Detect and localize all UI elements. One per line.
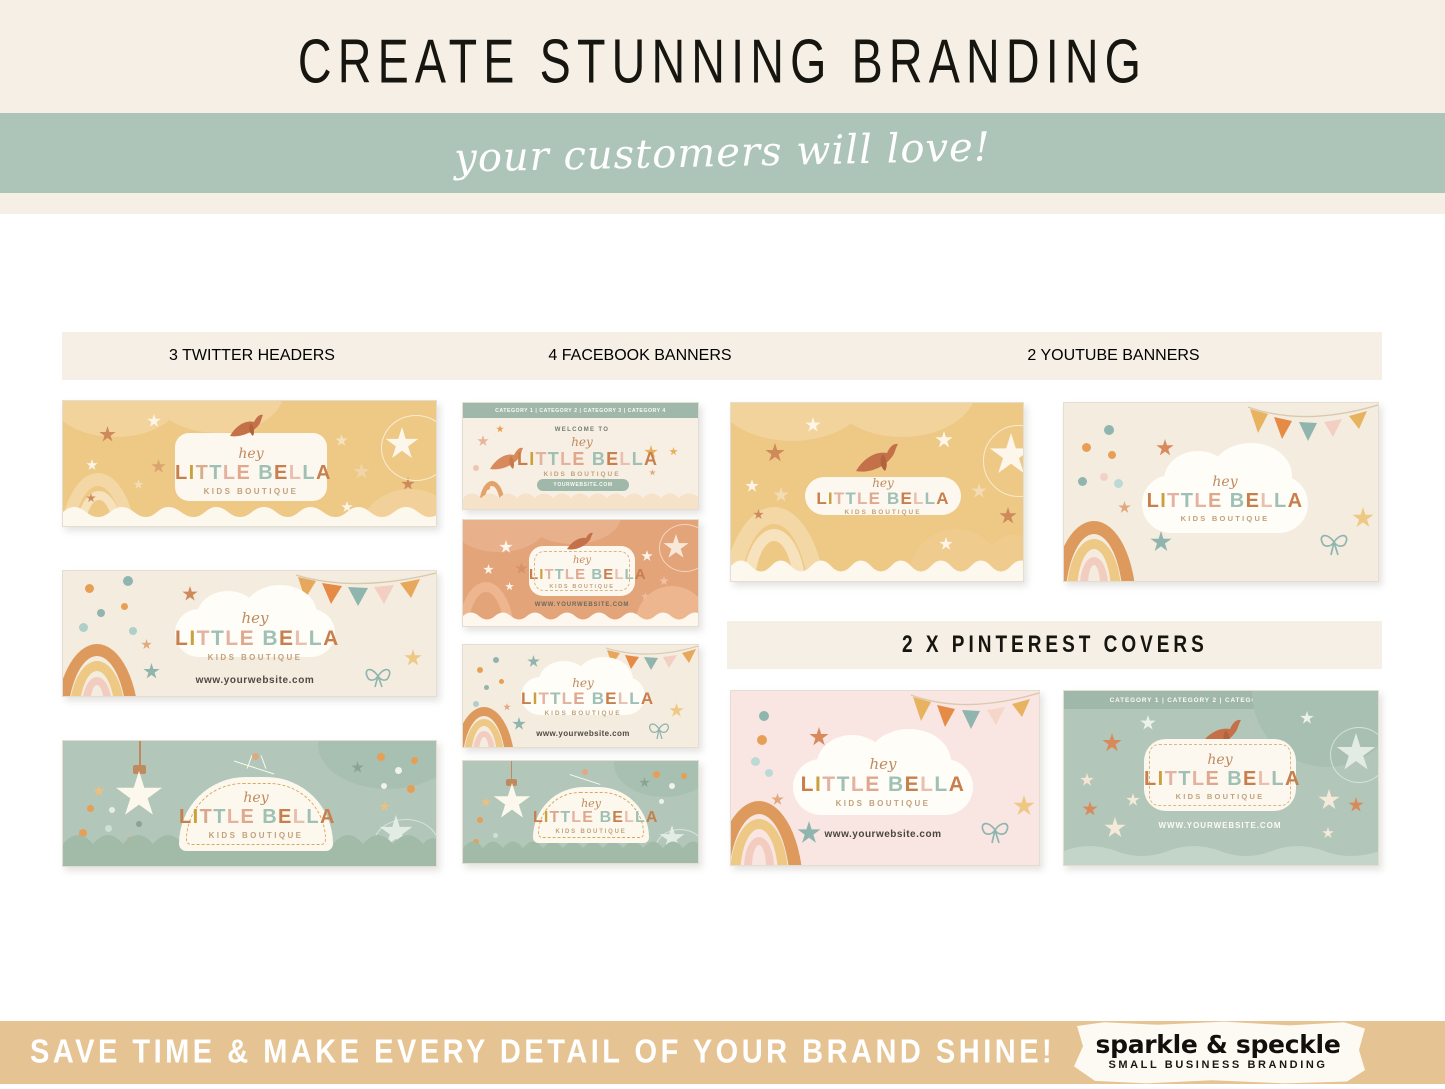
decor-bow-icon bbox=[363, 663, 393, 689]
decor-dot bbox=[477, 667, 483, 673]
brand-script-word: hey bbox=[1142, 475, 1308, 489]
card-pinterest-cover-1[interactable]: hey LITTLE BELLA KIDS BOUTIQUE www.yourw… bbox=[730, 690, 1040, 866]
decor-dot bbox=[97, 609, 105, 617]
decor-star bbox=[527, 655, 540, 668]
card-twitter-header-1[interactable]: hey LITTLE BELLA KIDS BOUTIQUE bbox=[62, 400, 437, 527]
decor-star bbox=[481, 797, 491, 807]
decor-star bbox=[773, 487, 789, 503]
welcome-text: WELCOME TO bbox=[517, 427, 647, 433]
decor-star bbox=[771, 793, 784, 806]
decor-star bbox=[477, 435, 489, 447]
brand-logo: hey LITTLE BELLA KIDS BOUTIQUE bbox=[179, 791, 333, 840]
header-lower-cream-strip bbox=[0, 193, 1445, 214]
page-title: CREATE STUNNING BRANDING bbox=[87, 26, 1359, 98]
decor-bow-icon bbox=[979, 817, 1011, 845]
decor-star bbox=[999, 507, 1017, 525]
card-facebook-banner-1[interactable]: CATEGORY 1 | CATEGORY 2 | CATEGORY 3 | C… bbox=[462, 402, 699, 510]
decor-star bbox=[404, 649, 422, 667]
brand-name: LITTLE BELLA bbox=[529, 567, 635, 582]
decor-star bbox=[1156, 439, 1174, 457]
decor-moon-blob bbox=[318, 740, 437, 789]
decor-dot bbox=[129, 627, 137, 635]
decor-dot bbox=[79, 623, 88, 632]
decor-star bbox=[1322, 827, 1334, 839]
decor-star bbox=[765, 443, 785, 463]
decor-wave-bottom bbox=[63, 500, 437, 526]
decor-star bbox=[503, 703, 511, 711]
decor-dot bbox=[681, 773, 687, 779]
brand-name: LITTLE BELLA bbox=[805, 490, 961, 507]
decor-star bbox=[1150, 531, 1172, 553]
decor-dot bbox=[759, 711, 769, 721]
brand-tagline: KIDS BOUTIQUE bbox=[175, 488, 327, 496]
decor-star bbox=[659, 576, 669, 586]
section-label-facebook: 4 FACEBOOK BANNERS bbox=[455, 332, 825, 380]
decor-star bbox=[745, 479, 759, 493]
decor-dot bbox=[765, 769, 773, 777]
decor-star bbox=[669, 447, 678, 456]
brand-tagline: KIDS BOUTIQUE bbox=[521, 711, 645, 718]
website-pill-text: YOURWEBSITE.COM bbox=[553, 482, 612, 488]
decor-swirl bbox=[1330, 727, 1379, 783]
decor-dot bbox=[121, 603, 128, 610]
decor-dot bbox=[1078, 477, 1087, 486]
decor-ornament-string bbox=[261, 755, 267, 769]
brand-logo: hey LITTLE BELLA KIDS BOUTIQUE bbox=[529, 556, 635, 591]
brand-script-word: hey bbox=[1144, 753, 1296, 767]
decor-star bbox=[515, 562, 528, 575]
decor-dot bbox=[1114, 479, 1123, 488]
brand-script-word: hey bbox=[175, 447, 327, 461]
footer-logo-subtitle: SMALL BUSINESS BRANDING bbox=[1068, 1059, 1368, 1071]
decor-star bbox=[1348, 797, 1364, 813]
decor-dot bbox=[1100, 473, 1108, 481]
brand-logo: hey LITTLE BELLA KIDS BOUTIQUE bbox=[1142, 475, 1308, 523]
website-url[interactable]: WWW.YOURWEBSITE.COM bbox=[1144, 821, 1296, 830]
decor-star bbox=[496, 425, 504, 433]
card-facebook-banner-4[interactable]: hey LITTLE BELLA KIDS BOUTIQUE bbox=[462, 760, 699, 864]
decor-star bbox=[182, 586, 198, 602]
bird-icon bbox=[227, 414, 269, 444]
brand-name: LITTLE BELLA bbox=[179, 807, 333, 827]
decor-star bbox=[143, 663, 160, 680]
card-youtube-banner-2[interactable]: hey LITTLE BELLA KIDS BOUTIQUE bbox=[1063, 402, 1379, 582]
decor-dot bbox=[1108, 451, 1116, 459]
category-bar[interactable]: CATEGORY 1 | CATEGORY 2 | CATEGORY 3 | C… bbox=[463, 403, 698, 418]
decor-star bbox=[1013, 795, 1035, 817]
decor-star bbox=[505, 582, 514, 591]
decor-wave-bottom bbox=[463, 608, 699, 626]
decor-moon-blob bbox=[614, 760, 699, 797]
section-label-facebook-text: 4 FACEBOOK BANNERS bbox=[548, 347, 731, 365]
decor-sun-blob bbox=[827, 402, 977, 437]
decor-swirl bbox=[983, 425, 1024, 497]
website-url[interactable]: WWW.YOURWEBSITE.COM bbox=[517, 602, 647, 608]
section-label-pinterest-text: 2 X PINTEREST COVERS bbox=[902, 631, 1208, 659]
decor-star bbox=[86, 459, 98, 471]
decor-dot bbox=[659, 799, 664, 804]
decor-bunting bbox=[911, 691, 1039, 739]
brand-tagline: KIDS BOUTIQUE bbox=[805, 510, 961, 517]
footer-tagline: SAVE TIME & MAKE EVERY DETAIL OF YOUR BR… bbox=[30, 1016, 1130, 1088]
brand-script-word: hey bbox=[521, 677, 645, 689]
card-facebook-banner-3[interactable]: hey LITTLE BELLA KIDS BOUTIQUE www.yourw… bbox=[462, 644, 699, 748]
decor-dot bbox=[484, 685, 489, 690]
brand-tagline: KIDS BOUTIQUE bbox=[533, 829, 649, 835]
decor-dot bbox=[653, 771, 660, 778]
decor-dot bbox=[473, 701, 479, 707]
decor-star bbox=[1140, 715, 1156, 731]
decor-scallop-bottom bbox=[463, 489, 699, 509]
decor-star bbox=[1102, 733, 1122, 753]
logo-plate: hey LITTLE BELLA KIDS BOUTIQUE bbox=[529, 546, 635, 596]
decor-star bbox=[141, 639, 152, 650]
brand-name: LITTLE BELLA bbox=[175, 463, 327, 483]
decor-dot bbox=[473, 465, 479, 471]
decor-hanging-star bbox=[115, 771, 163, 819]
card-facebook-banner-2[interactable]: hey LITTLE BELLA KIDS BOUTIQUE WWW.YOURW… bbox=[462, 519, 699, 627]
decor-dot bbox=[757, 735, 767, 745]
decor-star bbox=[935, 431, 953, 449]
website-url[interactable]: www.yourwebsite.com bbox=[175, 675, 335, 686]
brand-tagline: KIDS BOUTIQUE bbox=[1142, 515, 1308, 523]
bird-icon bbox=[565, 532, 597, 556]
decor-dot bbox=[85, 584, 94, 593]
brand-logo: hey LITTLE BELLA KIDS BOUTIQUE bbox=[533, 798, 649, 835]
brand-script-word: hey bbox=[179, 791, 333, 805]
decor-wave-bottom bbox=[731, 553, 1024, 581]
decor-dot bbox=[381, 783, 387, 789]
decor-sign-hanger bbox=[234, 761, 274, 775]
decor-dot bbox=[477, 817, 483, 823]
decor-star bbox=[1082, 801, 1098, 817]
brand-tagline: KIDS BOUTIQUE bbox=[179, 832, 333, 840]
brand-name: LITTLE BELLA bbox=[533, 810, 649, 826]
section-label-youtube-text: 2 YOUTUBE BANNERS bbox=[1027, 347, 1199, 365]
brand-logo: hey LITTLE BELLA KIDS BOUTIQUE bbox=[805, 477, 961, 517]
decor-star bbox=[1352, 507, 1374, 529]
decor-swirl bbox=[381, 415, 437, 481]
section-label-twitter: 3 TWITTER HEADERS bbox=[62, 332, 442, 380]
decor-dot bbox=[499, 679, 504, 684]
brand-script-word: hey bbox=[175, 611, 335, 626]
brand-name: LITTLE BELLA bbox=[1144, 769, 1296, 789]
decor-star bbox=[669, 703, 684, 718]
website-pill-button[interactable]: YOURWEBSITE.COM bbox=[537, 479, 629, 491]
section-label-twitter-text: 3 TWITTER HEADERS bbox=[169, 347, 335, 365]
brand-name: LITTLE BELLA bbox=[175, 628, 335, 649]
brand-tagline: KIDS BOUTIQUE bbox=[793, 800, 973, 808]
decor-star bbox=[93, 785, 105, 797]
decor-dot bbox=[411, 757, 418, 764]
decor-bow-icon bbox=[647, 719, 671, 741]
decor-bunting bbox=[296, 571, 436, 615]
decor-dot bbox=[377, 753, 385, 761]
decor-star bbox=[335, 434, 348, 447]
brand-tagline: KIDS BOUTIQUE bbox=[1144, 793, 1296, 801]
decor-dot bbox=[87, 805, 94, 812]
decor-dot bbox=[669, 783, 675, 789]
decor-dot bbox=[109, 807, 115, 813]
card-youtube-banner-1[interactable]: hey LITTLE BELLA KIDS BOUTIQUE bbox=[730, 402, 1024, 582]
brand-tagline: KIDS BOUTIQUE bbox=[175, 654, 335, 662]
category-bar-text: CATEGORY 1 | CATEGORY 2 | CATEGORY 3 | C… bbox=[495, 408, 666, 414]
decor-dot bbox=[407, 785, 415, 793]
decor-star bbox=[1318, 789, 1340, 811]
card-twitter-header-3[interactable]: hey LITTLE BELLA KIDS BOUTIQUE bbox=[62, 740, 437, 867]
brand-logo: hey LITTLE BELLA KIDS BOUTIQUE bbox=[521, 677, 645, 718]
decor-star bbox=[1118, 501, 1131, 514]
decor-sign-hanger bbox=[570, 774, 601, 785]
decor-swirl bbox=[659, 524, 699, 572]
decor-dot bbox=[1104, 425, 1114, 435]
decor-dot bbox=[123, 576, 133, 586]
card-twitter-header-2[interactable]: hey LITTLE BELLA KIDS BOUTIQUE www.yourw… bbox=[62, 570, 437, 697]
section-header-bar-pinterest: 2 X PINTEREST COVERS bbox=[727, 621, 1382, 669]
website-url[interactable]: www.yourwebsite.com bbox=[521, 729, 645, 738]
brand-script-word: hey bbox=[805, 477, 961, 489]
decor-ornament-knob bbox=[582, 769, 588, 775]
logo-plate: hey LITTLE BELLA KIDS BOUTIQUE bbox=[175, 433, 327, 501]
decor-star bbox=[649, 469, 656, 476]
brand-script-word: hey bbox=[793, 757, 973, 772]
decor-star bbox=[353, 463, 370, 480]
brand-script-word: hey bbox=[533, 798, 649, 809]
decor-bow-icon bbox=[1318, 529, 1350, 557]
brand-name: LITTLE BELLA bbox=[1142, 491, 1308, 511]
decor-bunting bbox=[1248, 403, 1378, 451]
decor-star bbox=[1126, 793, 1140, 807]
brand-logo: hey LITTLE BELLA KIDS BOUTIQUE bbox=[175, 447, 327, 496]
decor-star bbox=[151, 459, 166, 474]
brand-script-word: hey bbox=[529, 556, 635, 566]
decor-star bbox=[1080, 773, 1094, 787]
brand-script-word: hey bbox=[517, 436, 647, 448]
header-sage-band: your customers will love! bbox=[0, 113, 1445, 193]
card-pinterest-cover-2[interactable]: CATEGORY 1 | CATEGORY 2 | CATEGORY 3 | C… bbox=[1063, 690, 1379, 866]
decor-star bbox=[1104, 817, 1126, 839]
brand-tagline: KIDS BOUTIQUE bbox=[529, 585, 635, 591]
section-label-youtube: 2 YOUTUBE BANNERS bbox=[845, 332, 1382, 380]
brand-logo: WELCOME TO hey LITTLE BELLA KIDS BOUTIQU… bbox=[517, 427, 647, 479]
decor-star bbox=[641, 550, 653, 562]
page-subtitle: your customers will love! bbox=[0, 98, 1445, 208]
decor-dot bbox=[1082, 443, 1091, 452]
brand-name: LITTLE BELLA bbox=[793, 774, 973, 795]
brand-logo: hey LITTLE BELLA KIDS BOUTIQUE bbox=[793, 757, 973, 808]
brand-logo: hey LITTLE BELLA KIDS BOUTIQUE bbox=[1144, 753, 1296, 801]
decor-hanging-star bbox=[493, 783, 531, 821]
decor-star bbox=[483, 564, 494, 575]
decor-star bbox=[133, 479, 144, 490]
footer-logo-name: sparkle & speckle bbox=[1068, 1030, 1368, 1059]
decor-star bbox=[379, 801, 390, 812]
decor-dot bbox=[395, 767, 402, 774]
brand-name: LITTLE BELLA bbox=[517, 450, 647, 468]
decor-dot bbox=[493, 657, 499, 663]
brand-tagline: KIDS BOUTIQUE bbox=[517, 472, 647, 479]
decor-ornament-knob bbox=[252, 753, 259, 760]
brand-logo: hey LITTLE BELLA KIDS BOUTIQUE bbox=[175, 611, 335, 662]
decor-wave-bottom bbox=[1064, 839, 1379, 865]
decor-dot bbox=[751, 757, 760, 766]
website-url[interactable]: www.yourwebsite.com bbox=[793, 829, 973, 840]
brand-name: LITTLE BELLA bbox=[521, 690, 645, 707]
decor-star bbox=[971, 483, 987, 499]
